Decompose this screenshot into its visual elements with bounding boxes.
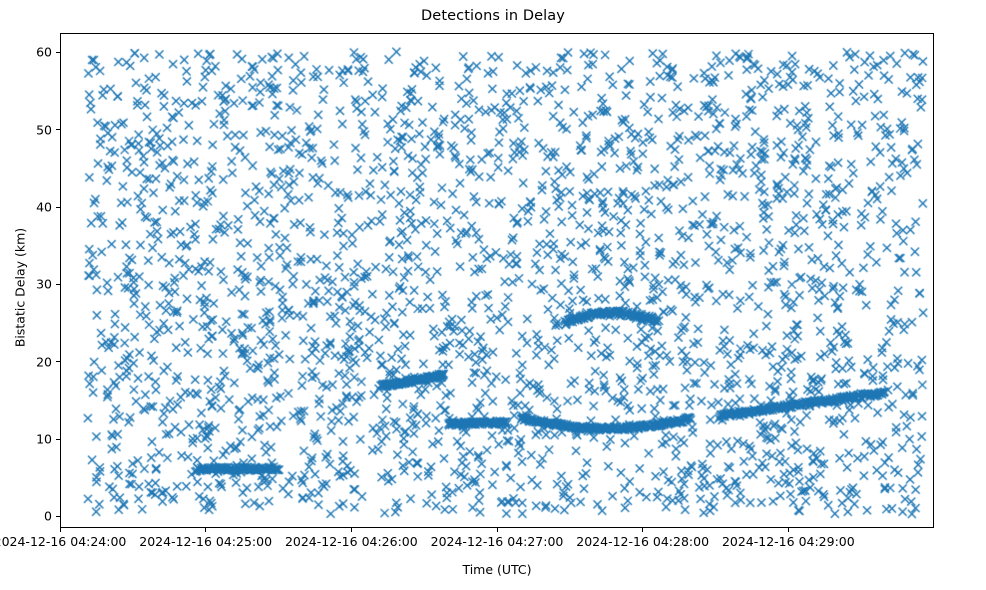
plot-axes-area <box>60 33 934 528</box>
y-tick-label: 0 <box>44 509 52 524</box>
x-tick-mark <box>60 528 61 532</box>
x-tick-mark <box>205 528 206 532</box>
y-axis-label: Bistatic Delay (km) <box>13 138 28 438</box>
x-tick-label: 2024-12-16 04:26:00 <box>285 534 418 549</box>
x-tick-label: 2024-12-16 04:28:00 <box>576 534 709 549</box>
x-axis-label: Time (UTC) <box>60 562 934 577</box>
x-tick-mark <box>788 528 789 532</box>
x-tick-label: 2024-12-16 04:24:00 <box>0 534 126 549</box>
x-tick-label: 2024-12-16 04:29:00 <box>722 534 855 549</box>
page-title: Detections in Delay <box>0 8 986 24</box>
x-tick-label: 2024-12-16 04:25:00 <box>139 534 272 549</box>
x-tick-label: 2024-12-16 04:27:00 <box>431 534 564 549</box>
x-tick-mark <box>351 528 352 532</box>
y-tick-label: 20 <box>36 354 52 369</box>
y-tick-label: 50 <box>36 122 52 137</box>
x-tick-mark <box>497 528 498 532</box>
detections-in-delay-figure: Detections in Delay 01020304050602024-12… <box>0 0 986 590</box>
y-tick-label: 60 <box>36 45 52 60</box>
y-tick-label: 10 <box>36 432 52 447</box>
y-tick-label: 30 <box>36 277 52 292</box>
y-tick-label: 40 <box>36 200 52 215</box>
scatter-plot-canvas <box>61 34 933 527</box>
x-tick-mark <box>642 528 643 532</box>
